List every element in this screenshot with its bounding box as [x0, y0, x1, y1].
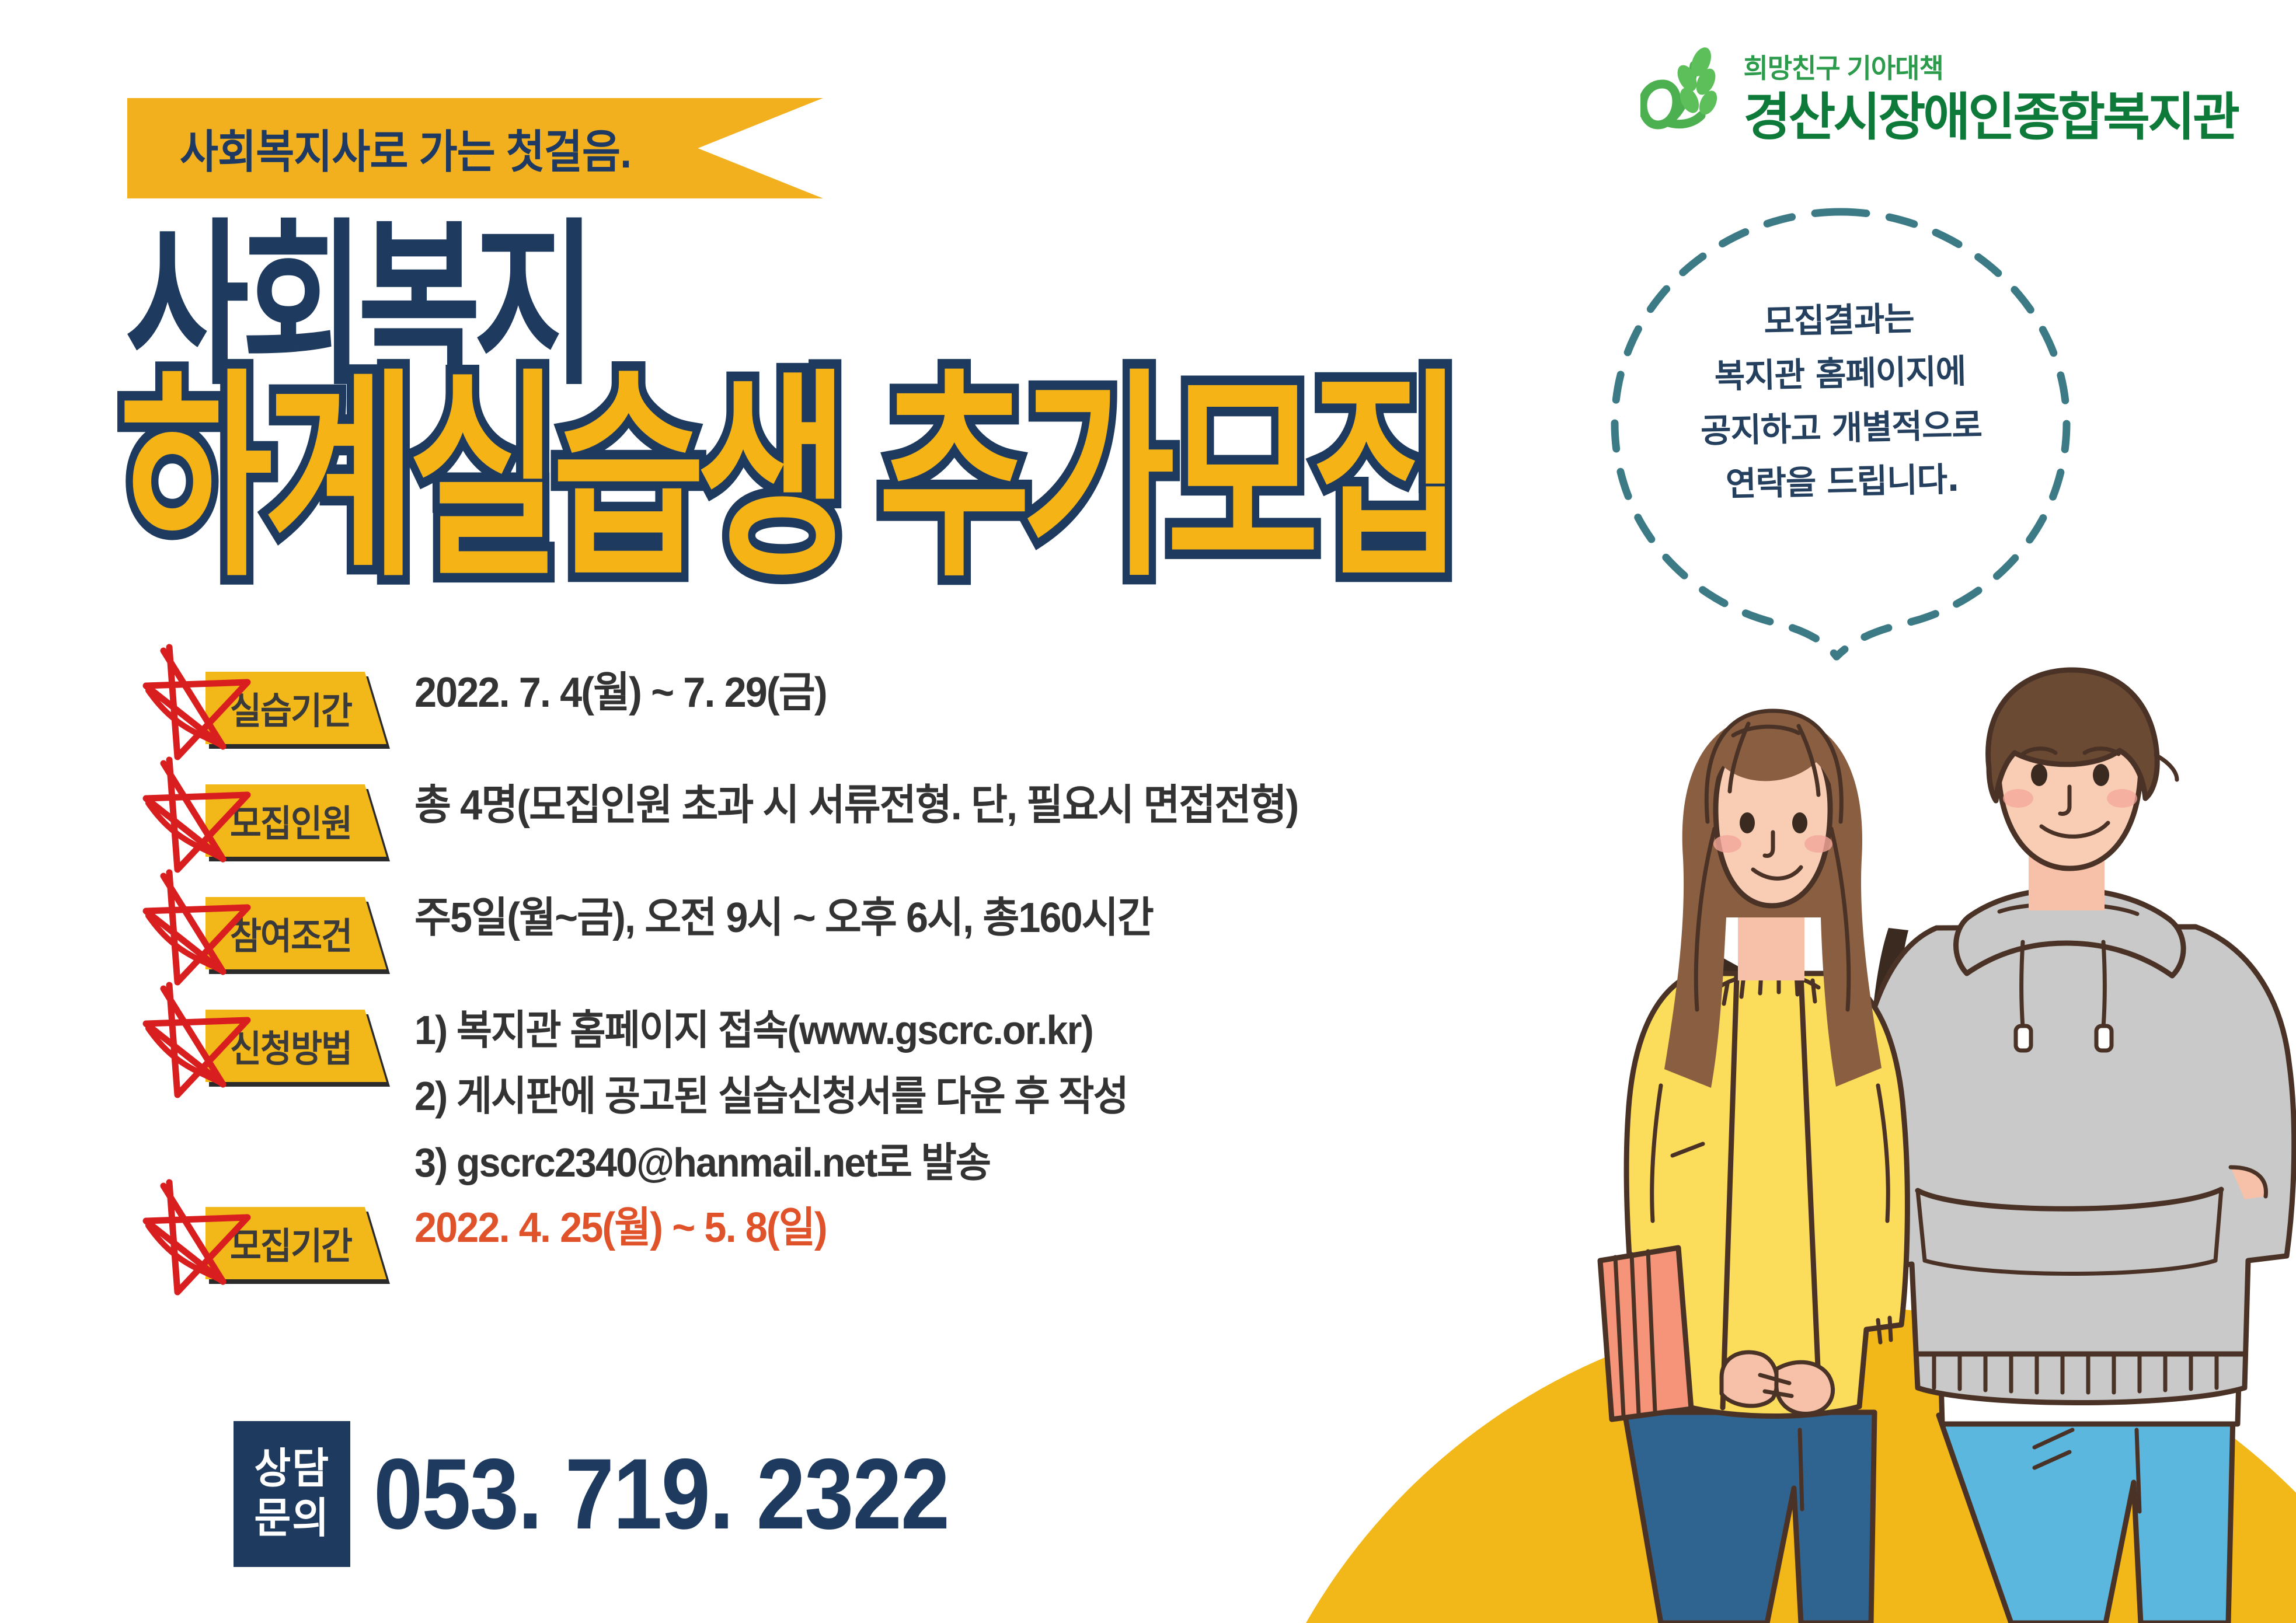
balloon-line-3: 공지하고 개별적으로 — [1604, 396, 2078, 460]
poster-title-line-2: 하계실습생 추가모집 — [120, 368, 1455, 588]
balloon-line-1: 모집결과는 — [1602, 289, 2076, 352]
info-row-conditions: 참여조건 주5일(월~금), 오전 9시 ~ 오후 6시, 총160시간 — [140, 864, 1600, 972]
info-values: 2022. 4. 25(월) ~ 5. 8(일) — [414, 1174, 1600, 1249]
info-row-how-to-apply: 신청방법 1) 복지관 홈페이지 접속(www.gscrc.or.kr) 2) … — [140, 977, 1600, 1184]
logo-title: 경산시장애인종합복지관 — [1743, 92, 2238, 143]
info-tag-label: 실습기간 — [230, 682, 351, 735]
info-tag: 모집기간 — [205, 1207, 386, 1279]
info-values: 총 4명(모집인원 초과 시 서류전형. 단, 필요시 면접전형) — [414, 752, 1600, 827]
info-tag: 실습기간 — [205, 672, 386, 744]
leaf-fish-logo-icon — [1640, 46, 1728, 145]
info-values: 주5일(월~금), 오전 9시 ~ 오후 6시, 총160시간 — [414, 864, 1600, 940]
info-row-headcount: 모집인원 총 4명(모집인원 초과 시 서류전형. 단, 필요시 면접전형) — [140, 752, 1600, 860]
info-tag: 참여조건 — [205, 897, 386, 969]
info-row-practice-period: 실습기간 2022. 7. 4(월) ~ 7. 29(금) — [140, 639, 1600, 747]
contact-label-line-2: 문의 — [254, 1494, 330, 1544]
info-tag-label: 모집기간 — [230, 1217, 351, 1270]
info-tag: 신청방법 — [205, 1010, 386, 1082]
info-value: 주5일(월~금), 오전 9시 ~ 오후 6시, 총160시간 — [414, 897, 1541, 940]
info-tag-label: 참여조건 — [230, 907, 351, 960]
balloon-text-block: 모집결과는 복지관 홈페이지에 공지하고 개별적으로 연락을 드립니다. — [1602, 289, 2079, 514]
contact-block: 상담 문의 053. 719. 2322 — [234, 1421, 1027, 1567]
tag-wrapper: 참여조건 — [140, 864, 414, 972]
info-tag-label: 신청방법 — [230, 1020, 351, 1073]
info-list: 실습기간 2022. 7. 4(월) ~ 7. 29(금) 모집인원 — [140, 639, 1600, 1282]
info-tag: 모집인원 — [205, 784, 386, 857]
info-tag-label: 모집인원 — [230, 794, 351, 847]
info-value: 1) 복지관 홈페이지 접속(www.gscrc.or.kr) — [414, 1010, 1541, 1051]
info-value: 2022. 7. 4(월) ~ 7. 29(금) — [414, 672, 1541, 714]
balloon-line-4: 연락을 드립니다. — [1605, 450, 2079, 514]
info-value: 총 4명(모집인원 초과 시 서류전형. 단, 필요시 면접전형) — [414, 784, 1541, 827]
tag-wrapper: 모집인원 — [140, 752, 414, 860]
contact-label-line-1: 상담 — [254, 1444, 330, 1494]
two-students-illustration: .ln{fill:none;stroke:#4A3326;stroke-widt… — [1486, 654, 2296, 1623]
organization-logo: 희망친구 기아대책 경산시장애인종합복지관 — [1640, 46, 2238, 145]
info-values: 2022. 7. 4(월) ~ 7. 29(금) — [414, 639, 1600, 714]
tag-wrapper: 모집기간 — [140, 1174, 414, 1282]
notice-speech-balloon: 모집결과는 복지관 홈페이지에 공지하고 개별적으로 연락을 드립니다. — [1604, 201, 2077, 668]
logo-subtitle: 희망친구 기아대책 — [1743, 47, 1943, 86]
balloon-line-2: 복지관 홈페이지에 — [1603, 343, 2077, 406]
poster-canvas: 사회복지사로 가는 첫걸음. 희망친구 기아대책 경산시장애인종합복지관 사회복… — [0, 0, 2296, 1623]
tag-wrapper: 신청방법 — [140, 977, 414, 1152]
contact-phone-number: 053. 719. 2322 — [374, 1444, 949, 1544]
info-value: 2022. 4. 25(월) ~ 5. 8(일) — [414, 1207, 1541, 1249]
info-value: 2) 게시판에 공고된 실습신청서를 다운 후 작성 — [414, 1076, 1541, 1117]
contact-label-box: 상담 문의 — [234, 1421, 350, 1567]
tag-wrapper: 실습기간 — [140, 639, 414, 747]
info-values: 1) 복지관 홈페이지 접속(www.gscrc.or.kr) 2) 게시판에 … — [414, 977, 1600, 1184]
tagline-ribbon: 사회복지사로 가는 첫걸음. — [127, 98, 823, 198]
tagline-text: 사회복지사로 가는 첫걸음. — [180, 116, 631, 181]
info-row-application-period: 모집기간 2022. 4. 25(월) ~ 5. 8(일) — [140, 1174, 1600, 1282]
